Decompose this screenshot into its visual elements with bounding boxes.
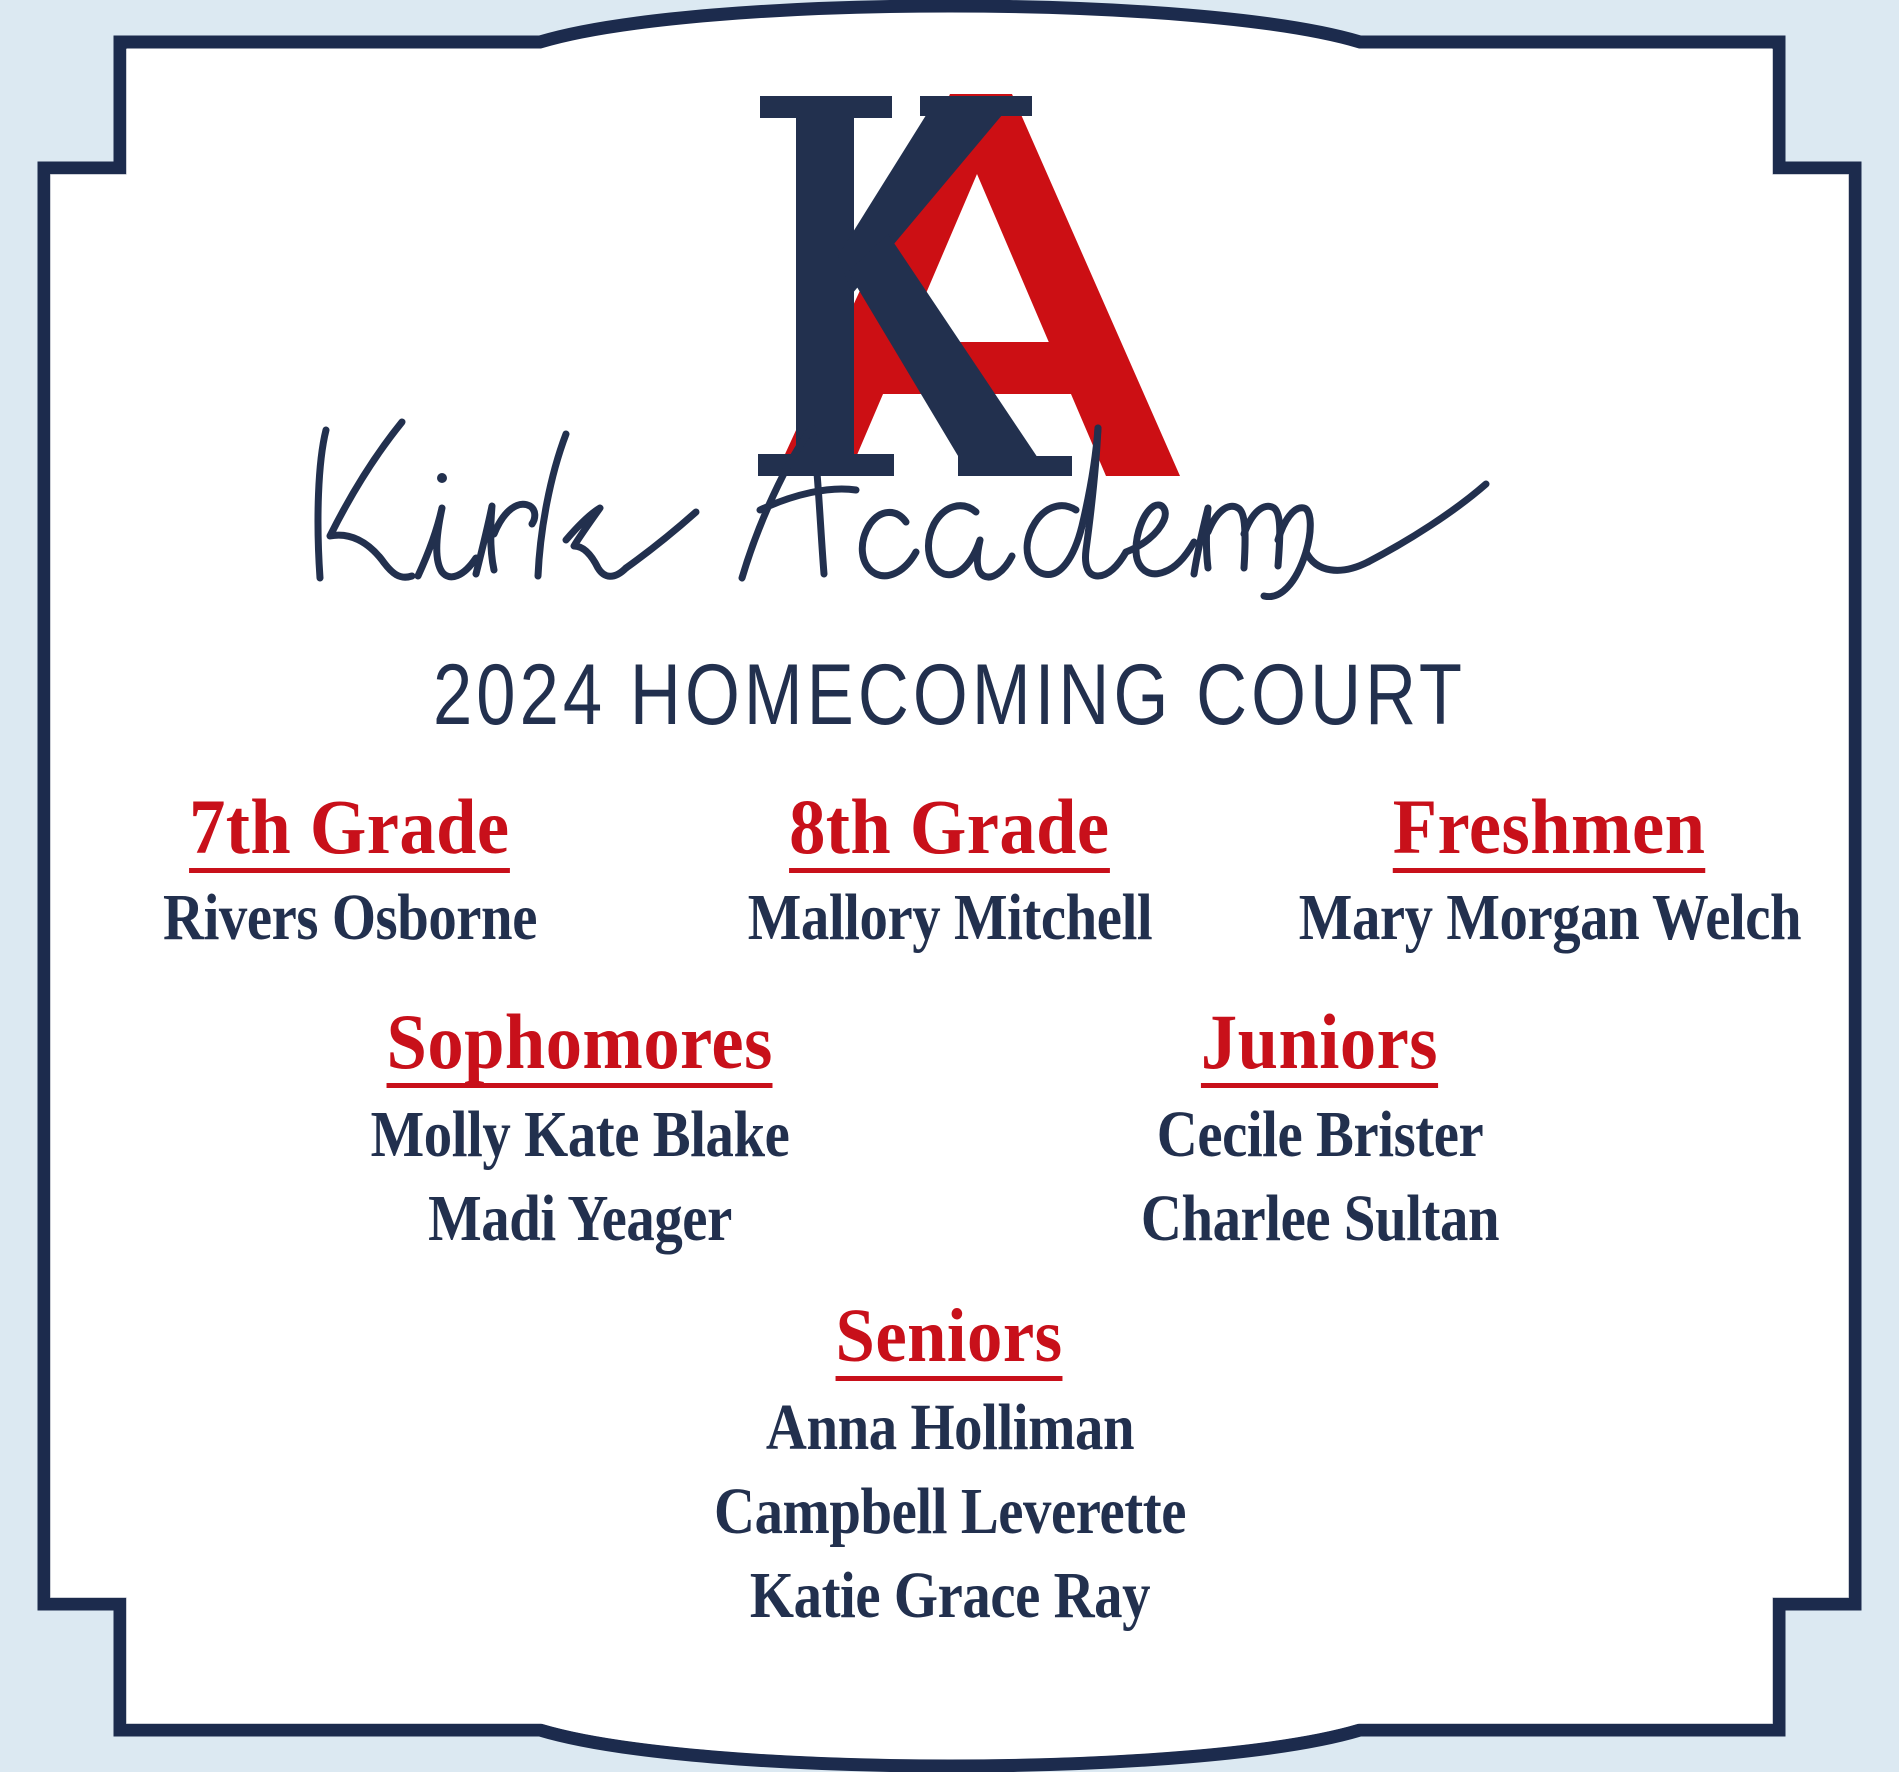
court-member-name: Mallory Mitchell xyxy=(692,881,1208,955)
court-group-seniors: Seniors Anna Holliman Campbell Leverette… xyxy=(500,1298,1400,1633)
court-group-freshmen: Freshmen Mary Morgan Welch xyxy=(1250,788,1850,955)
court-member-name: Rivers Osborne xyxy=(92,881,608,955)
grade-heading-8th-grade: 8th Grade xyxy=(789,788,1110,873)
court-group-juniors: Juniors Cecile Brister Charlee Sultan xyxy=(950,1003,1690,1256)
grade-heading-seniors: Seniors xyxy=(836,1298,1063,1381)
court-member-name: Katie Grace Ray xyxy=(563,1559,1337,1633)
grade-heading-freshmen: Freshmen xyxy=(1393,788,1706,873)
school-script-svg xyxy=(290,400,1610,600)
court-member-name: Mary Morgan Welch xyxy=(1292,881,1808,955)
court-member-name: Madi Yeager xyxy=(261,1182,897,1256)
court-member-name: Charlee Sultan xyxy=(1001,1182,1637,1256)
court-row-seniors: Seniors Anna Holliman Campbell Leverette… xyxy=(0,1298,1899,1633)
court-group-8th-grade: 8th Grade Mallory Mitchell xyxy=(650,788,1250,955)
grade-heading-juniors: Juniors xyxy=(1201,1003,1438,1088)
court-member-name: Campbell Leverette xyxy=(563,1475,1337,1549)
court-member-name: Molly Kate Blake xyxy=(261,1098,897,1172)
grade-heading-sophomores: Sophomores xyxy=(386,1003,772,1088)
court-member-name: Cecile Brister xyxy=(1001,1098,1637,1172)
school-script-wordmark xyxy=(0,400,1899,600)
court-row-sophomores-juniors: Sophomores Molly Kate Blake Madi Yeager … xyxy=(0,1003,1899,1256)
grade-heading-7th-grade: 7th Grade xyxy=(189,788,510,873)
court-group-sophomores: Sophomores Molly Kate Blake Madi Yeager xyxy=(210,1003,950,1256)
court-member-name: Anna Holliman xyxy=(563,1391,1337,1465)
court-row-middle-school: 7th Grade Rivers Osborne 8th Grade Mallo… xyxy=(0,788,1899,955)
homecoming-court-list: 7th Grade Rivers Osborne 8th Grade Mallo… xyxy=(0,788,1899,1632)
homecoming-court-poster: 2024 HOMECOMING COURT 7th Grade Rivers O… xyxy=(0,0,1899,1772)
page-title: 2024 HOMECOMING COURT xyxy=(171,652,1728,738)
court-group-7th-grade: 7th Grade Rivers Osborne xyxy=(50,788,650,955)
